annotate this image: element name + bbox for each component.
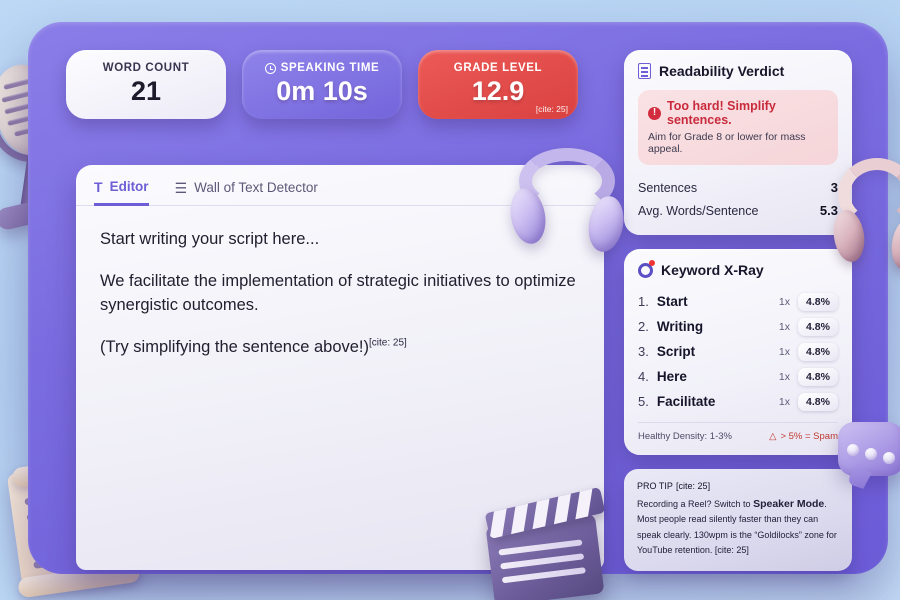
lines-icon: ☰ — [175, 181, 188, 195]
script-textarea[interactable]: Start writing your script here... We fac… — [76, 206, 604, 401]
metric-label: Avg. Words/Sentence — [638, 204, 758, 218]
text-format-icon: T — [94, 180, 103, 194]
keyword-density: 4.8% — [798, 343, 838, 361]
keyword-rank: 1. — [638, 294, 649, 309]
document-icon — [638, 63, 651, 79]
stat-label-text: SPEAKING TIME — [281, 62, 380, 74]
stat-card-word-count: WORD COUNT 21 — [66, 50, 226, 119]
keyword-count: 1x — [779, 396, 790, 408]
card-title-text: Keyword X-Ray — [661, 262, 764, 278]
gear-icon — [638, 263, 653, 278]
pro-tip-heading-citation: [cite: 25] — [676, 481, 710, 491]
paragraph-text: Start writing your script here... — [100, 230, 319, 248]
app-window: WORD COUNT 21 SPEAKING TIME 0m 10s GRADE… — [28, 22, 888, 574]
pro-tip-body-citation: [cite: 25] — [715, 545, 749, 555]
card-title: Readability Verdict — [638, 63, 838, 79]
pro-tip-body: Recording a Reel? Switch to Speaker Mode… — [637, 497, 839, 558]
card-title-text: Readability Verdict — [659, 63, 784, 79]
keyword-row[interactable]: 5. Facilitate 1x 4.8% — [638, 389, 838, 414]
tab-label: Editor — [110, 179, 149, 194]
keyword-rank: 5. — [638, 394, 649, 409]
metric-value: 3 — [831, 180, 838, 195]
pro-tip-card: PRO TIP [cite: 25] Recording a Reel? Swi… — [624, 469, 852, 571]
metric-row-sentences: Sentences 3 — [638, 176, 838, 199]
paragraph-text: We facilitate the implementation of stra… — [100, 272, 576, 313]
pro-tip-body-bold: Speaker Mode — [753, 498, 824, 510]
alert-headline: ! Too hard! Simplify sentences. — [648, 99, 828, 127]
metric-row-avg-words: Avg. Words/Sentence 5.3 — [638, 199, 838, 222]
keyword-footer: Healthy Density: 1-3% △ > 5% = Spam — [638, 422, 838, 442]
readability-verdict-card: Readability Verdict ! Too hard! Simplify… — [624, 50, 852, 235]
paragraph-citation: [cite: 25] — [369, 338, 407, 349]
script-paragraph: We facilitate the implementation of stra… — [100, 270, 580, 317]
keyword-word: Script — [657, 344, 771, 359]
spam-warning-text: > 5% = Spam — [780, 431, 838, 442]
stat-value: 21 — [82, 77, 210, 105]
keyword-row[interactable]: 4. Here 1x 4.8% — [638, 364, 838, 389]
alert-subtext: Aim for Grade 8 or lower for mass appeal… — [648, 131, 828, 155]
keyword-density: 4.8% — [798, 368, 838, 386]
script-paragraph: (Try simplifying the sentence above!)[ci… — [100, 336, 580, 359]
keyword-density: 4.8% — [798, 293, 838, 311]
stat-label: WORD COUNT — [82, 62, 210, 74]
paragraph-text: (Try simplifying the sentence above!) — [100, 338, 369, 356]
keyword-count: 1x — [779, 296, 790, 308]
editor-panel: T Editor ☰ Wall of Text Detector Start w… — [76, 165, 604, 570]
editor-tabs: T Editor ☰ Wall of Text Detector — [76, 165, 604, 206]
stat-value: 12.9 — [434, 77, 562, 105]
keyword-rank: 2. — [638, 319, 649, 334]
clock-icon — [265, 63, 276, 74]
sidebar: Readability Verdict ! Too hard! Simplify… — [624, 50, 852, 571]
stat-label: GRADE LEVEL — [434, 62, 562, 74]
script-paragraph: Start writing your script here... — [100, 228, 580, 251]
keyword-xray-card: Keyword X-Ray 1. Start 1x 4.8% 2. Writin… — [624, 249, 852, 455]
alert-headline-text: Too hard! Simplify sentences. — [667, 99, 828, 127]
card-title: Keyword X-Ray — [638, 262, 838, 278]
metric-label: Sentences — [638, 181, 697, 195]
keyword-rank: 3. — [638, 344, 649, 359]
tab-editor[interactable]: T Editor — [94, 179, 149, 206]
keyword-density: 4.8% — [798, 393, 838, 411]
keyword-count: 1x — [779, 321, 790, 333]
headphones-cup-right — [889, 216, 900, 272]
stats-row: WORD COUNT 21 SPEAKING TIME 0m 10s GRADE… — [66, 50, 578, 119]
stat-card-grade-level: GRADE LEVEL 12.9 [cite: 25] — [418, 50, 578, 119]
keyword-row[interactable]: 3. Script 1x 4.8% — [638, 339, 838, 364]
keyword-row[interactable]: 1. Start 1x 4.8% — [638, 289, 838, 314]
stat-label-text: GRADE LEVEL — [454, 62, 542, 74]
tab-wall-of-text-detector[interactable]: ☰ Wall of Text Detector — [175, 179, 318, 205]
keyword-rank: 4. — [638, 369, 649, 384]
notification-dot-icon — [649, 260, 655, 266]
keyword-row[interactable]: 2. Writing 1x 4.8% — [638, 314, 838, 339]
readability-alert: ! Too hard! Simplify sentences. Aim for … — [638, 90, 838, 165]
stat-citation: [cite: 25] — [536, 104, 568, 114]
stat-card-speaking-time: SPEAKING TIME 0m 10s — [242, 50, 402, 119]
warning-triangle-icon: △ — [769, 431, 776, 442]
spam-warning: △ > 5% = Spam — [769, 431, 838, 442]
pro-tip-body-part1: Recording a Reel? Switch to — [637, 499, 753, 509]
keyword-word: Here — [657, 369, 771, 384]
keyword-word: Start — [657, 294, 771, 309]
stat-label: SPEAKING TIME — [258, 62, 386, 74]
healthy-density-note: Healthy Density: 1-3% — [638, 431, 732, 442]
keyword-count: 1x — [779, 371, 790, 383]
pro-tip-heading: PRO TIP [cite: 25] — [637, 480, 839, 492]
stat-label-text: WORD COUNT — [103, 62, 190, 74]
exclamation-icon: ! — [648, 107, 661, 120]
stat-value: 0m 10s — [258, 77, 386, 105]
keyword-word: Writing — [657, 319, 771, 334]
keyword-density: 4.8% — [798, 318, 838, 336]
tab-label: Wall of Text Detector — [194, 180, 318, 195]
pro-tip-heading-text: PRO TIP — [637, 481, 673, 491]
keyword-word: Facilitate — [657, 394, 771, 409]
metric-value: 5.3 — [820, 203, 838, 218]
keyword-count: 1x — [779, 346, 790, 358]
